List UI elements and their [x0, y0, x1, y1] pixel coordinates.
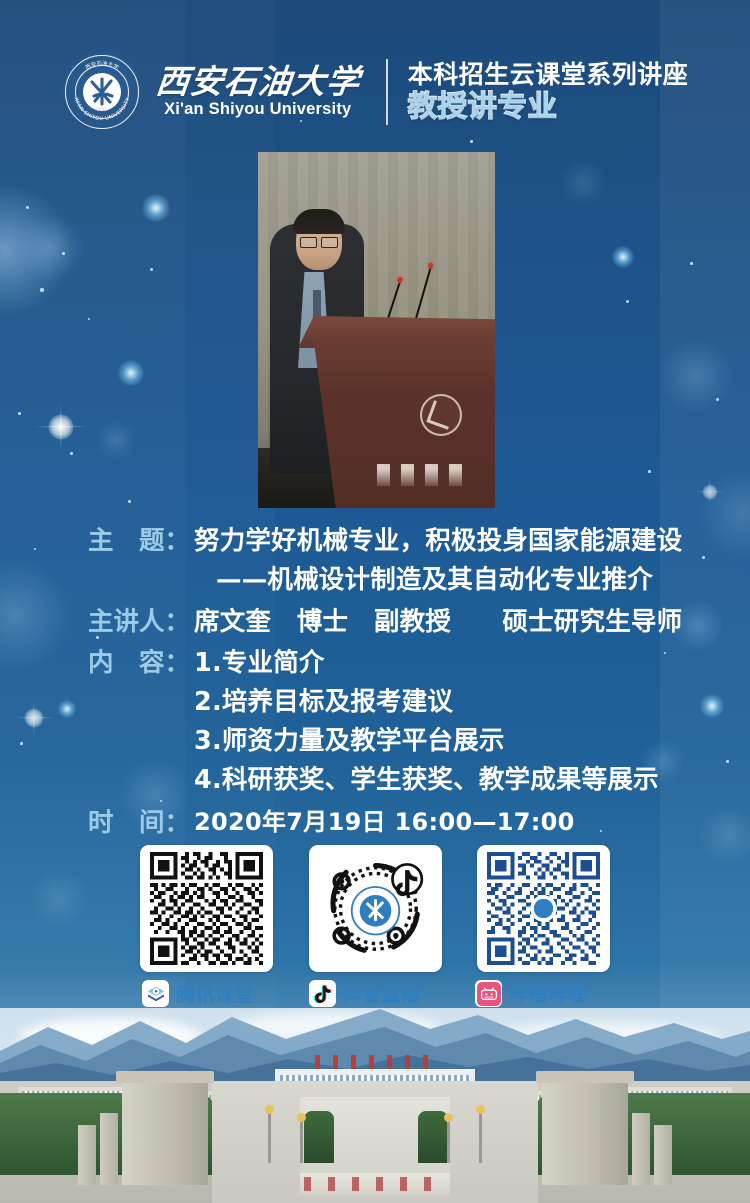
qr-card-tencent[interactable] — [140, 845, 273, 972]
qr-card-douyin[interactable] — [309, 845, 442, 972]
speaker-label: 主讲人： — [88, 603, 194, 642]
time-value: 2020年7月19日 16:00—17:00 — [194, 804, 688, 840]
douyin-icon — [309, 980, 336, 1007]
crest-svg: 西安石油大学 XI'AN SHIYOU UNIVERSITY — [62, 52, 142, 132]
svg-text:bilibili: bilibili — [484, 995, 493, 999]
content-list: 1.专业简介 2.培养目标及报考建议 3.师资力量及教学平台展示 4.科研获奖、… — [194, 644, 688, 799]
qr-card-row — [140, 845, 610, 972]
glow-dot — [58, 700, 76, 718]
speaker-value: 席文奎 博士 副教授 硕士研究生导师 — [194, 603, 688, 642]
star-dot — [726, 760, 729, 763]
crest-year: 1951 — [96, 107, 107, 112]
qr-label-text: 抖音直播 — [343, 980, 421, 1007]
university-crest-icon: 西安石油大学 XI'AN SHIYOU UNIVERSITY 1951 — [62, 52, 142, 132]
pylon-fin — [100, 1113, 118, 1185]
sparkle-star — [24, 390, 98, 464]
pylon-fin — [78, 1125, 96, 1185]
gate-pylon-right — [542, 1081, 628, 1185]
qr-label-row: 腾讯课堂 抖音直播 — [140, 980, 610, 1007]
poster-header: 西安石油大学 XI'AN SHIYOU UNIVERSITY 1951 西安石油… — [0, 44, 750, 140]
star-dot — [150, 268, 153, 271]
bokeh-circle — [700, 806, 750, 864]
glow-dot — [612, 246, 634, 268]
star-dot — [70, 452, 73, 455]
qr-label-text: 腾讯课堂 — [176, 980, 254, 1007]
wordmark-english: Xi'an Shiyou University — [164, 100, 351, 119]
star-dot — [34, 548, 36, 550]
topic-line-1: 努力学好机械专业，积极投身国家能源建设 — [194, 522, 688, 561]
time-label: 时 间： — [88, 804, 194, 843]
star-dot — [26, 206, 29, 209]
speaker-glasses-icon — [300, 237, 338, 246]
qr-label-bilibili[interactable]: bilibili 哔哩哔哩 — [475, 980, 608, 1007]
crest-chinese-arc-text: 西安石油大学 — [84, 59, 121, 72]
content-item: 2.培养目标及报考建议 — [194, 683, 688, 722]
qr-code-panel: 腾讯课堂 抖音直播 — [140, 845, 610, 1010]
street-lamp — [479, 1111, 482, 1163]
qr-card-bilibili[interactable] — [477, 845, 610, 972]
banner-series-title: 本科招生云课堂系列讲座 — [408, 61, 689, 89]
star-dot — [18, 412, 21, 415]
wordmark-chinese: 西安石油大学 — [154, 65, 362, 100]
glow-dot — [118, 360, 144, 386]
topic-value: 努力学好机械专业，积极投身国家能源建设 ——机械设计制造及其自动化专业推介 — [194, 522, 688, 600]
douyin-badge-icon — [392, 864, 421, 896]
bokeh-circle — [660, 340, 732, 412]
star-dot — [20, 742, 23, 745]
street-lamp — [447, 1119, 450, 1163]
pylon-fin — [632, 1113, 650, 1185]
info-row-time: 时 间： 2020年7月19日 16:00—17:00 — [88, 804, 688, 843]
sparkle-star — [6, 690, 62, 746]
info-row-topic: 主 题： 努力学好机械专业，积极投身国家能源建设 ——机械设计制造及其自动化专业… — [88, 522, 688, 600]
info-row-speaker: 主讲人： 席文奎 博士 副教授 硕士研究生导师 — [88, 603, 688, 642]
sparkle-star — [688, 470, 732, 514]
pylon-fin — [654, 1125, 672, 1185]
qr-label-douyin[interactable]: 抖音直播 — [309, 980, 442, 1007]
hedge-left — [304, 1111, 334, 1163]
street-lamp — [300, 1119, 303, 1163]
campus-photo-footer — [0, 1008, 750, 1203]
star-dot — [648, 470, 651, 473]
bokeh-circle — [0, 185, 70, 315]
podium-university-text — [377, 464, 473, 486]
qr-center-logo-icon — [530, 895, 556, 921]
star-dot — [470, 140, 473, 143]
pylon-cap — [536, 1071, 634, 1083]
header-divider — [386, 59, 388, 125]
street-lamp — [268, 1111, 271, 1163]
gate-nameplate-text — [304, 1177, 446, 1191]
bilibili-icon: bilibili — [475, 980, 502, 1007]
bokeh-circle — [700, 470, 750, 556]
bokeh-circle — [18, 215, 84, 281]
bokeh-circle — [560, 160, 606, 206]
glow-dot — [700, 694, 724, 718]
qr-label-tencent[interactable]: 腾讯课堂 — [142, 980, 275, 1007]
qr-label-text: 哔哩哔哩 — [509, 980, 587, 1007]
star-dot — [716, 398, 719, 401]
content-item: 3.师资力量及教学平台展示 — [194, 722, 688, 761]
banner-program-title: 教授讲专业 — [408, 90, 689, 122]
qr-code-bilibili-icon[interactable] — [484, 852, 603, 965]
star-dot — [40, 288, 44, 292]
qr-code-tencent-icon[interactable] — [147, 852, 266, 965]
star-dot — [88, 318, 90, 320]
bokeh-circle — [0, 560, 70, 670]
bokeh-circle — [96, 420, 136, 460]
gate-nameplate-wall — [300, 1173, 450, 1195]
header-banner-text: 本科招生云课堂系列讲座 教授讲专业 — [408, 61, 689, 122]
topic-line-2: ——机械设计制造及其自动化专业推介 — [194, 561, 688, 600]
star-dot — [626, 300, 629, 303]
tencent-classroom-icon — [142, 980, 169, 1007]
topic-label: 主 题： — [88, 522, 194, 561]
star-dot — [62, 252, 65, 255]
glow-dot — [142, 194, 170, 222]
podium-emblem-icon — [420, 394, 462, 436]
content-item: 4.科研获奖、学生获奖、教学成果等展示 — [194, 761, 688, 800]
star-dot — [702, 556, 705, 559]
speaker-hair — [293, 209, 345, 234]
poster-root: 西安石油大学 XI'AN SHIYOU UNIVERSITY 1951 西安石油… — [0, 0, 750, 1203]
pylon-cap — [116, 1071, 214, 1083]
gate-pylon-left — [122, 1081, 208, 1185]
star-dot — [690, 262, 693, 265]
event-info: 主 题： 努力学好机械专业，积极投身国家能源建设 ——机械设计制造及其自动化专业… — [88, 522, 688, 846]
university-wordmark: 西安石油大学 Xi'an Shiyou University — [156, 65, 366, 120]
bokeh-circle — [30, 870, 88, 928]
info-row-contents: 内 容： 1.专业简介 2.培养目标及报考建议 3.师资力量及教学平台展示 4.… — [88, 644, 688, 799]
star-dot — [128, 500, 131, 503]
content-label: 内 容： — [88, 644, 194, 683]
qr-code-douyin-icon[interactable] — [316, 852, 435, 965]
speaker-photo — [258, 152, 495, 508]
content-item: 1.专业简介 — [194, 644, 688, 683]
